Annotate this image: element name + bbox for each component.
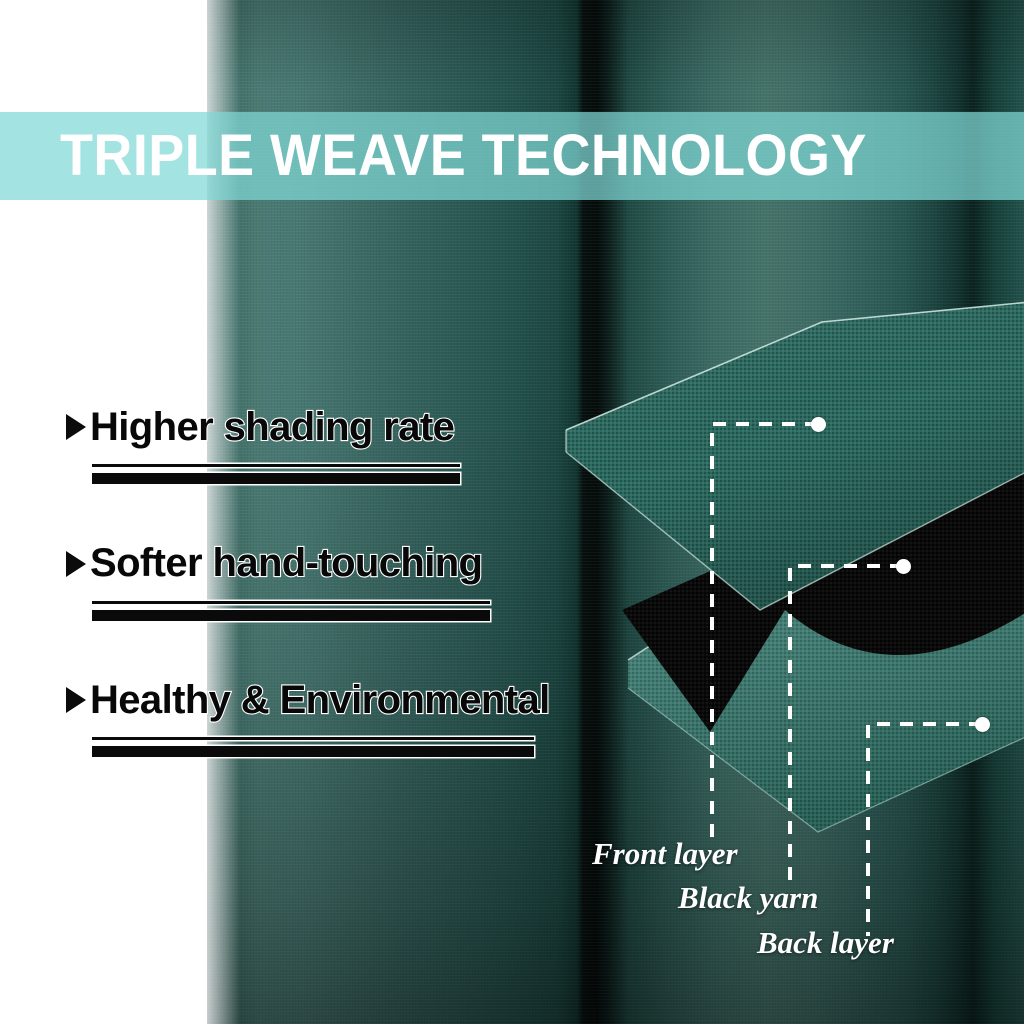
underline-thin bbox=[92, 601, 490, 604]
triangle-right-icon bbox=[66, 551, 86, 577]
feature-label: Healthy & Environmental bbox=[90, 679, 550, 721]
feature-headline: Higher shading rate bbox=[66, 406, 586, 448]
feature-underline-group bbox=[92, 601, 490, 621]
underline-thick bbox=[92, 746, 534, 757]
fabric-layer-svg bbox=[560, 280, 1024, 900]
underline-thick bbox=[92, 610, 490, 621]
feature-label: Softer hand-touching bbox=[90, 542, 482, 584]
product-infographic: TRIPLE WEAVE TECHNOLOGY Higher shading r… bbox=[0, 0, 1024, 1024]
banner-title-text: TRIPLE WEAVE TECHNOLOGY bbox=[60, 127, 867, 185]
black-yarn-label: Black yarn bbox=[678, 880, 818, 916]
feature-item: Softer hand-touching bbox=[66, 542, 586, 620]
front-layer-label: Front layer bbox=[592, 836, 738, 872]
triangle-right-icon bbox=[66, 414, 86, 440]
feature-underline-group bbox=[92, 464, 460, 484]
underline-thick bbox=[92, 473, 460, 484]
triangle-right-icon bbox=[66, 687, 86, 713]
feature-item: Higher shading rate bbox=[66, 406, 586, 484]
feature-underline-group bbox=[92, 737, 534, 757]
fabric-layer-diagram bbox=[560, 280, 1024, 900]
title-banner: TRIPLE WEAVE TECHNOLOGY bbox=[0, 112, 1024, 200]
feature-list: Higher shading rate Softer hand-touching… bbox=[66, 406, 586, 815]
feature-item: Healthy & Environmental bbox=[66, 679, 586, 757]
underline-thin bbox=[92, 737, 534, 740]
feature-label: Higher shading rate bbox=[90, 406, 454, 448]
back-layer-label: Back layer bbox=[757, 925, 894, 961]
feature-headline: Softer hand-touching bbox=[66, 542, 586, 584]
feature-headline: Healthy & Environmental bbox=[66, 679, 586, 721]
underline-thin bbox=[92, 464, 460, 467]
